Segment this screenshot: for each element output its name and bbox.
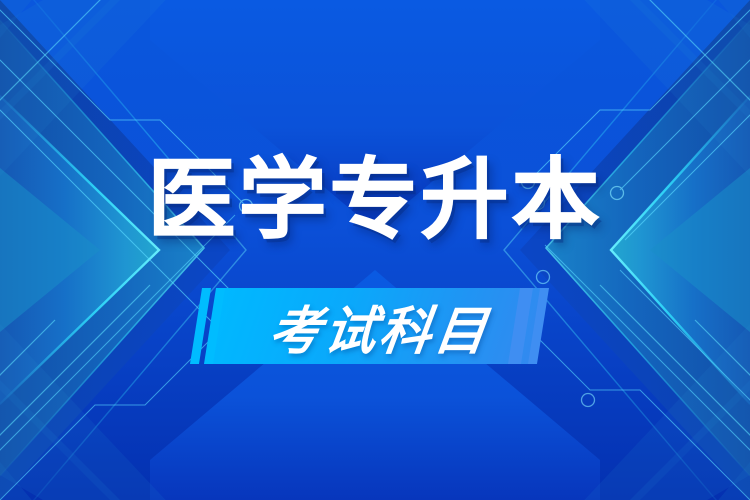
subtitle-text-wrap: 考试科目	[219, 288, 541, 364]
page-title: 医学专升本	[147, 154, 602, 246]
subtitle-container: 考试科目	[0, 288, 750, 364]
poster-banner: 医学专升本 考试科目	[0, 0, 750, 500]
subtitle-text: 考试科目	[265, 289, 494, 364]
title-container: 医学专升本	[0, 154, 750, 246]
